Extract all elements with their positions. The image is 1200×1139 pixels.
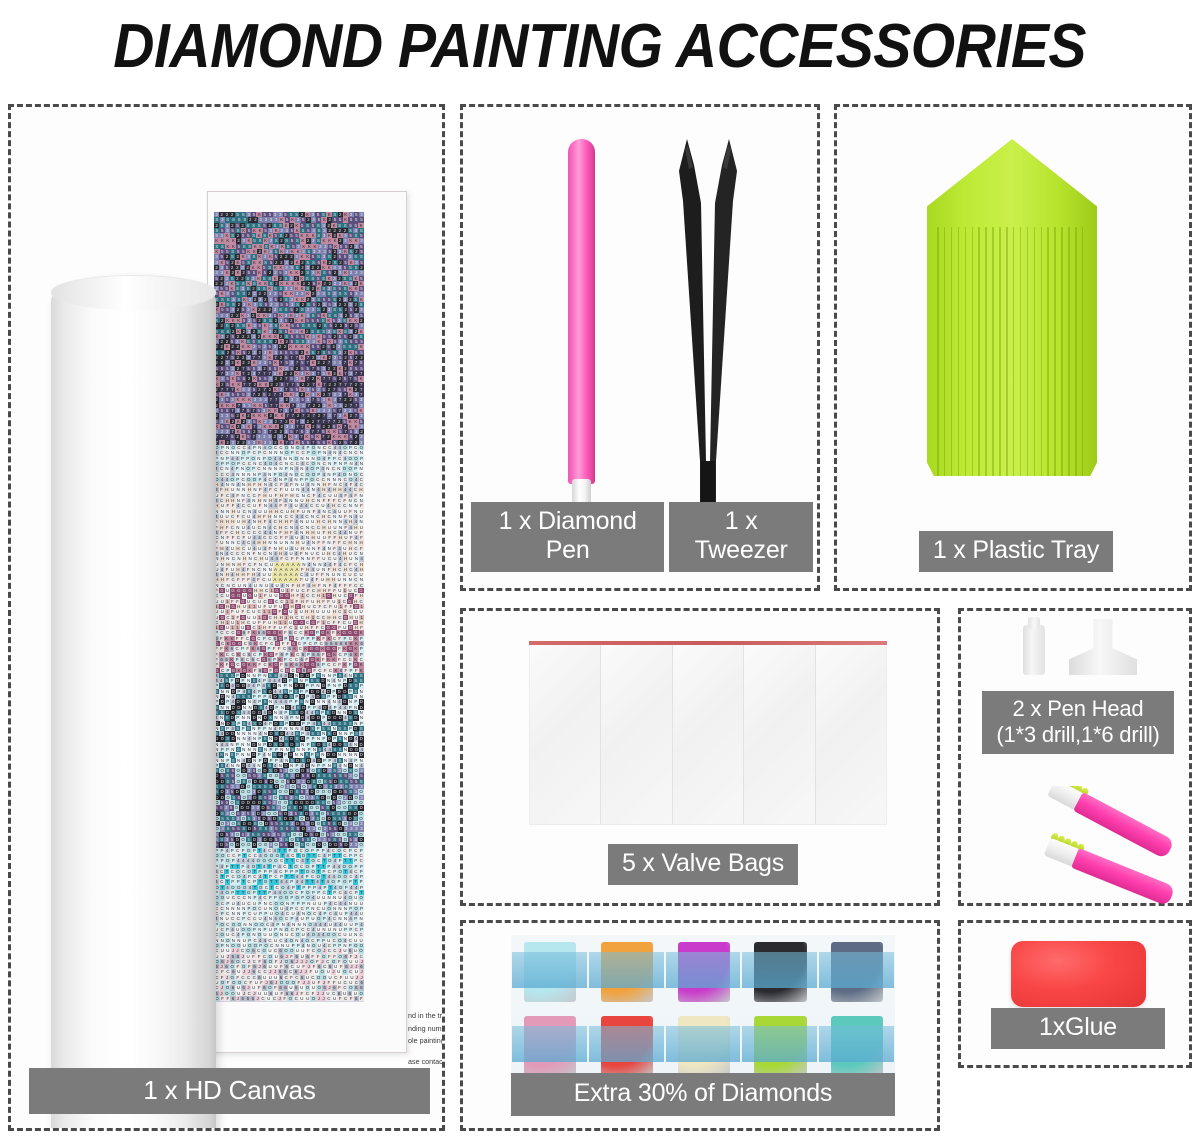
panel-diamond-pen-tweezer: 1 x Diamond Pen 1 x Tweezer [460, 104, 820, 591]
tray-groove [992, 227, 994, 476]
pattern-row: OFF6J666JCUCJFOCUUOJJCUFCF6F [214, 996, 364, 1001]
plastic-tray-icon [927, 139, 1097, 476]
diamond-bag-strip [512, 1026, 587, 1062]
label-pen-head: 2 x Pen Head(1*3 drill,1*6 drill) [982, 691, 1173, 754]
diamond-bags-photo [511, 935, 895, 1087]
tray-groove [951, 227, 953, 476]
panel-plastic-tray: 1 x Plastic Tray [834, 104, 1192, 591]
tray-groove [965, 227, 967, 476]
tweezer-icon [677, 131, 739, 523]
diamond-bag [742, 939, 817, 1009]
diamond-bag-strip [666, 1026, 741, 1062]
tray-groove [1006, 227, 1008, 476]
glue-label-wrap: 1xGlue [991, 1008, 1165, 1049]
valve-bag [744, 642, 815, 824]
note-line: ole painting is completed [408, 1035, 442, 1048]
diamond-bag [589, 939, 664, 1009]
tray-groove [1013, 227, 1015, 476]
diamond-bag [666, 939, 741, 1009]
glue-icon [1011, 941, 1146, 1007]
tray-groove [1082, 227, 1084, 476]
panel-valve-bags: 5 x Valve Bags [460, 608, 940, 906]
pen-head-wide-icon [1069, 619, 1137, 675]
valve-bag [816, 642, 886, 824]
diamond-pattern-grid: 3222SS35K55335SS2K35SKS2K353S3SSSS223333… [214, 212, 364, 1002]
note-spacer [408, 1048, 442, 1056]
diamond-bag-strip [742, 1026, 817, 1062]
printed-canvas-sheet: 3222SS35K55335SS2K35SKS2K353S3SSSS223333… [207, 191, 407, 1053]
pen-panel-labels: 1 x Diamond Pen 1 x Tweezer [471, 502, 813, 572]
panel-hd-canvas: 3222SS35K55335SS2K35SKS2K353S3SSSS223333… [8, 104, 445, 1131]
canvas-instruction-note: nd in the tray nding number or letter on… [408, 1010, 442, 1068]
tray-groove [1061, 227, 1063, 476]
diamond-bag-strip [512, 952, 587, 988]
diamond-pen-icon [568, 139, 595, 484]
pen-head-photo [1035, 786, 1195, 904]
label-diamond-pen: 1 x Diamond Pen [471, 502, 664, 572]
valve-bag [673, 642, 744, 824]
diamond-bag [512, 939, 587, 1009]
label-glue: 1xGlue [991, 1008, 1165, 1049]
note-line: ase contact us. [408, 1056, 442, 1069]
tray-groove [999, 227, 1001, 476]
canvas-stage: 3222SS35K55335SS2K35SKS2K353S3SSSS223333… [11, 107, 442, 1128]
panel-pen-head: 2 x Pen Head(1*3 drill,1*6 drill) [958, 608, 1192, 906]
diamond-bag-strip [589, 952, 664, 988]
canvas-label-wrap: 1 x HD Canvas [29, 1068, 430, 1114]
diamond-bag-strip [742, 952, 817, 988]
note-line: nd in the tray [408, 1010, 442, 1023]
tray-groove [958, 227, 960, 476]
tray-groove [1034, 227, 1036, 476]
diamond-bag-strip [589, 1026, 664, 1062]
bags-label-wrap: 5 x Valve Bags [463, 844, 943, 885]
page-title: DIAMOND PAINTING ACCESSORIES [114, 11, 1087, 82]
label-pen-head-line2: (1*3 drill,1*6 drill) [996, 722, 1159, 747]
tray-groove [1054, 227, 1056, 476]
tray-groove [972, 227, 974, 476]
tray-groove [1041, 227, 1043, 476]
pen-head-label-wrap: 2 x Pen Head(1*3 drill,1*6 drill) [965, 691, 1191, 754]
valve-bag-seal-strip [529, 641, 887, 645]
diamond-bag-row [511, 939, 895, 1009]
pen-shaft [1073, 792, 1175, 859]
panel-glue: 1xGlue [958, 920, 1192, 1068]
diamond-bag-strip [819, 1026, 894, 1062]
diamond-bag-strip [819, 952, 894, 988]
label-tweezer: 1 x Tweezer [669, 502, 813, 572]
label-hd-canvas: 1 x HD Canvas [29, 1068, 430, 1114]
tray-groove [978, 227, 980, 476]
tray-groove [1047, 227, 1049, 476]
valve-bags-icon [529, 641, 887, 825]
rolled-canvas-icon [51, 275, 216, 1128]
label-extra-diamonds: Extra 30% of Diamonds [511, 1073, 895, 1116]
tray-label-wrap: 1 x Plastic Tray [837, 531, 1195, 572]
tray-groove [944, 227, 946, 476]
tray-groove [985, 227, 987, 476]
title-bar: DIAMOND PAINTING ACCESSORIES [0, 0, 1200, 92]
note-line: nding number or letter on the canvas [408, 1023, 442, 1036]
diamonds-label-wrap: Extra 30% of Diamonds [511, 1073, 895, 1116]
tray-groove [1020, 227, 1022, 476]
tray-groove [1068, 227, 1070, 476]
diamond-bag [819, 939, 894, 1009]
valve-bag [601, 642, 672, 824]
tray-groove [1027, 227, 1029, 476]
pattern-cell: F [359, 996, 364, 1001]
label-pen-head-line1: 2 x Pen Head [1013, 696, 1144, 721]
pen-head-narrow-icon [1023, 625, 1045, 675]
panel-extra-diamonds: Extra 30% of Diamonds [460, 920, 940, 1131]
valve-bag [530, 642, 601, 824]
tray-groove [1075, 227, 1077, 476]
label-plastic-tray: 1 x Plastic Tray [919, 531, 1113, 572]
label-valve-bags: 5 x Valve Bags [608, 844, 798, 885]
diamond-bag-strip [666, 952, 741, 988]
tray-groove [937, 227, 939, 476]
